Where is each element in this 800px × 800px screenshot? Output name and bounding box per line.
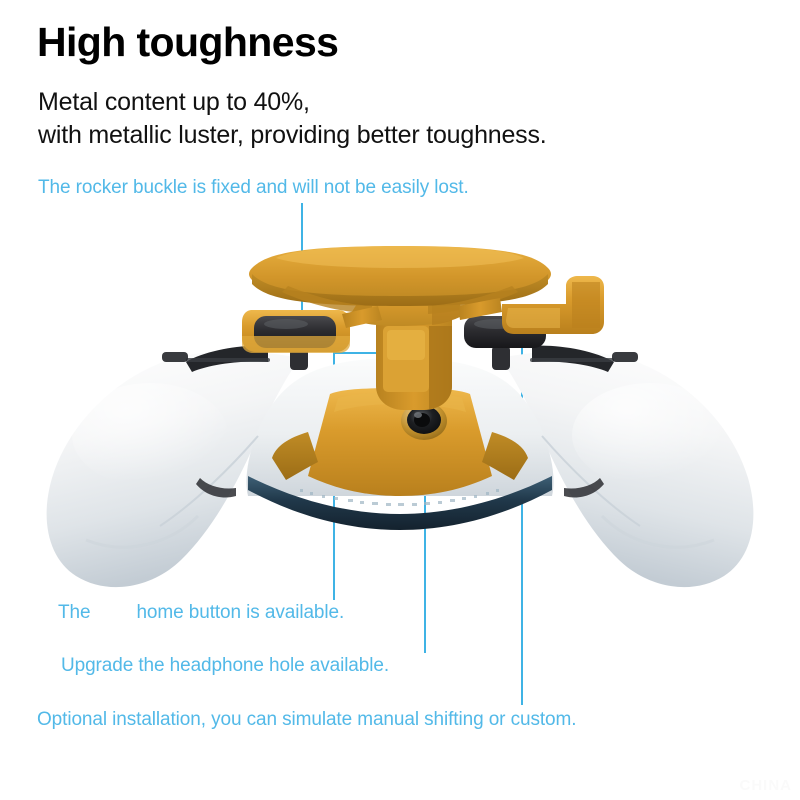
steering-wheel-mount-bracket [249, 246, 551, 496]
annotation-optional-install: Optional installation, you can simulate … [37, 709, 576, 731]
headphone-jack-glint [414, 412, 422, 418]
right-grip-highlight [572, 383, 728, 487]
watermark: CHINA [740, 777, 793, 794]
infographic-page: High toughness Metal content up to 40%, … [0, 0, 800, 800]
shift-paddle-highlight [506, 308, 560, 328]
bracket-clip-plate-highlight [387, 330, 425, 360]
product-photo [0, 240, 800, 600]
right-stick-shaft [492, 346, 510, 370]
subtitle-line-2: with metallic luster, providing better t… [38, 119, 547, 152]
subtitle-line-1: Metal content up to 40%, [38, 86, 547, 119]
right-bumper-edge [530, 358, 614, 362]
annotation-headphone-hole: Upgrade the headphone hole available. [61, 655, 389, 677]
left-buckle-lip [242, 336, 350, 353]
left-stick-cap-highlight [264, 319, 308, 329]
left-grip-highlight [72, 383, 228, 487]
annotation-home-prefix: The [58, 602, 90, 623]
annotation-home-rest: home button is available. [136, 602, 344, 623]
annotation-home-button: Thehome button is available. [58, 602, 344, 624]
annotation-rocker-buckle: The rocker buckle is fixed and will not … [38, 177, 469, 199]
page-subtitle: Metal content up to 40%, with metallic l… [38, 86, 547, 152]
left-bumper-edge [186, 358, 270, 362]
bracket-column-shadow [429, 326, 452, 409]
shift-paddle-hook-shade [572, 282, 600, 328]
left-wing-dark-edge [162, 352, 188, 362]
right-wing-dark-edge [612, 352, 638, 362]
page-title: High toughness [37, 20, 338, 66]
